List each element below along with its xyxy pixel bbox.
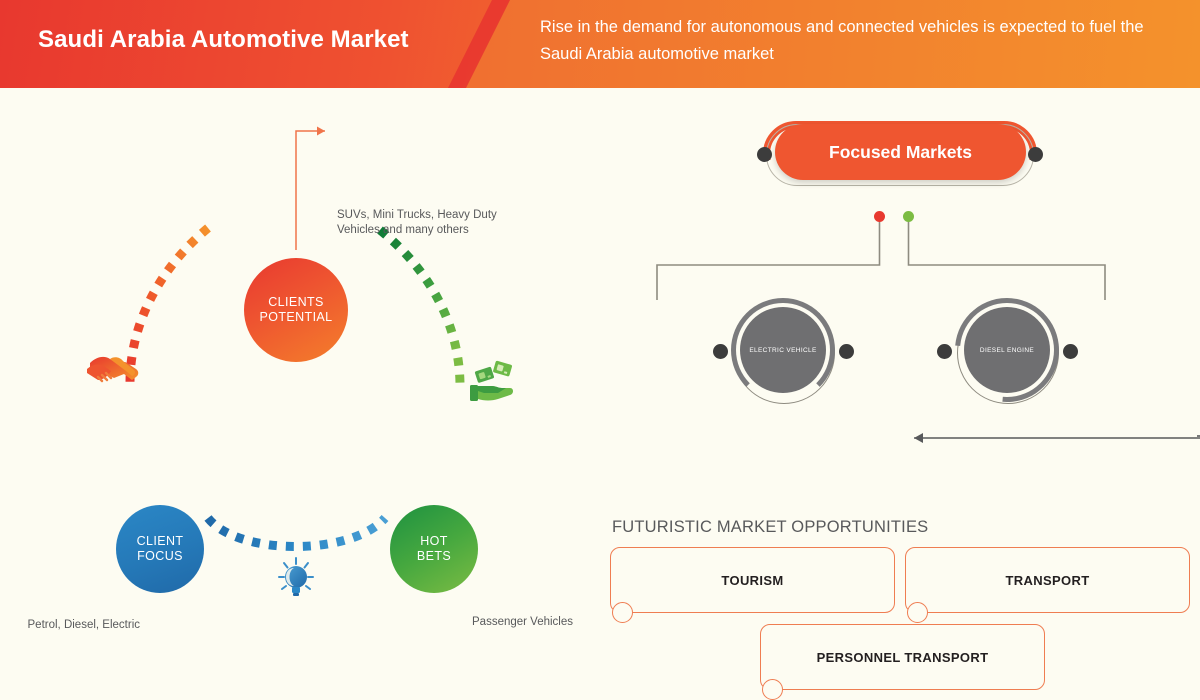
futuristic-opportunities-heading: FUTURISTIC MARKET OPPORTUNITIES <box>612 518 928 537</box>
blue-dotted-arc <box>208 518 385 547</box>
diesel-engine-right-dot <box>1063 344 1078 359</box>
callout-client-focus: Petrol, Diesel, Electric <box>10 618 140 633</box>
header-banner: Saudi Arabia Automotive Market Rise in t… <box>0 0 1200 88</box>
node-clients-potential-label-2: POTENTIAL <box>259 310 332 325</box>
green-dotted-arc <box>380 230 460 386</box>
callout-hot-bets: Passenger Vehicles <box>472 615 592 630</box>
right-diagram-panel: Focused Markets ELECTRIC VEHICLE DIESEL … <box>600 88 1200 600</box>
opportunity-box-transport[interactable]: TRANSPORT <box>905 547 1190 613</box>
node-clients-potential[interactable]: CLIENTS POTENTIAL <box>244 258 348 362</box>
green-connector-dot <box>903 211 914 222</box>
red-connector-dot <box>874 211 885 222</box>
callout-clients-potential: SUVs, Mini Trucks, Heavy Duty Vehicles a… <box>337 208 507 238</box>
opportunity-label-tourism: TOURISM <box>721 573 783 588</box>
opportunity-marker-transport <box>907 602 928 623</box>
opportunity-marker-personnel-transport <box>762 679 783 700</box>
node-client-focus-label-1: CLIENT <box>137 534 184 549</box>
futuristic-heading-arrow <box>914 433 1200 443</box>
opportunity-box-personnel-transport[interactable]: PERSONNEL TRANSPORT <box>760 624 1045 690</box>
opportunity-label-transport: TRANSPORT <box>1005 573 1089 588</box>
opportunity-label-personnel-transport: PERSONNEL TRANSPORT <box>817 650 989 665</box>
header-subtitle: Rise in the demand for autonomous and co… <box>540 14 1160 68</box>
opportunity-box-tourism[interactable]: TOURISM <box>610 547 895 613</box>
lightbulb-icon <box>279 558 313 596</box>
focused-markets-button[interactable]: Focused Markets <box>775 124 1026 180</box>
node-electric-vehicle[interactable]: ELECTRIC VEHICLE <box>740 307 826 393</box>
electric-vehicle-right-dot <box>839 344 854 359</box>
node-hot-bets-label-1: HOT <box>420 534 448 549</box>
money-in-hand-icon <box>470 360 513 401</box>
focused-markets-right-dot <box>1028 147 1043 162</box>
node-clients-potential-label-1: CLIENTS <box>268 295 324 310</box>
opportunity-marker-tourism <box>612 602 633 623</box>
page-title: Saudi Arabia Automotive Market <box>38 26 409 54</box>
node-client-focus-label-2: FOCUS <box>137 549 183 564</box>
focused-markets-left-dot <box>757 147 772 162</box>
node-hot-bets[interactable]: HOT BETS <box>390 505 478 593</box>
node-diesel-engine[interactable]: DIESEL ENGINE <box>964 307 1050 393</box>
left-diagram-panel: CLIENTS POTENTIAL SUVs, Mini Trucks, Hea… <box>0 88 600 600</box>
leader-line-clients-potential <box>296 127 325 251</box>
orange-dotted-arc <box>130 228 208 383</box>
node-client-focus[interactable]: CLIENT FOCUS <box>116 505 204 593</box>
node-hot-bets-label-2: BETS <box>417 549 451 564</box>
diesel-engine-left-dot <box>937 344 952 359</box>
electric-vehicle-left-dot <box>713 344 728 359</box>
